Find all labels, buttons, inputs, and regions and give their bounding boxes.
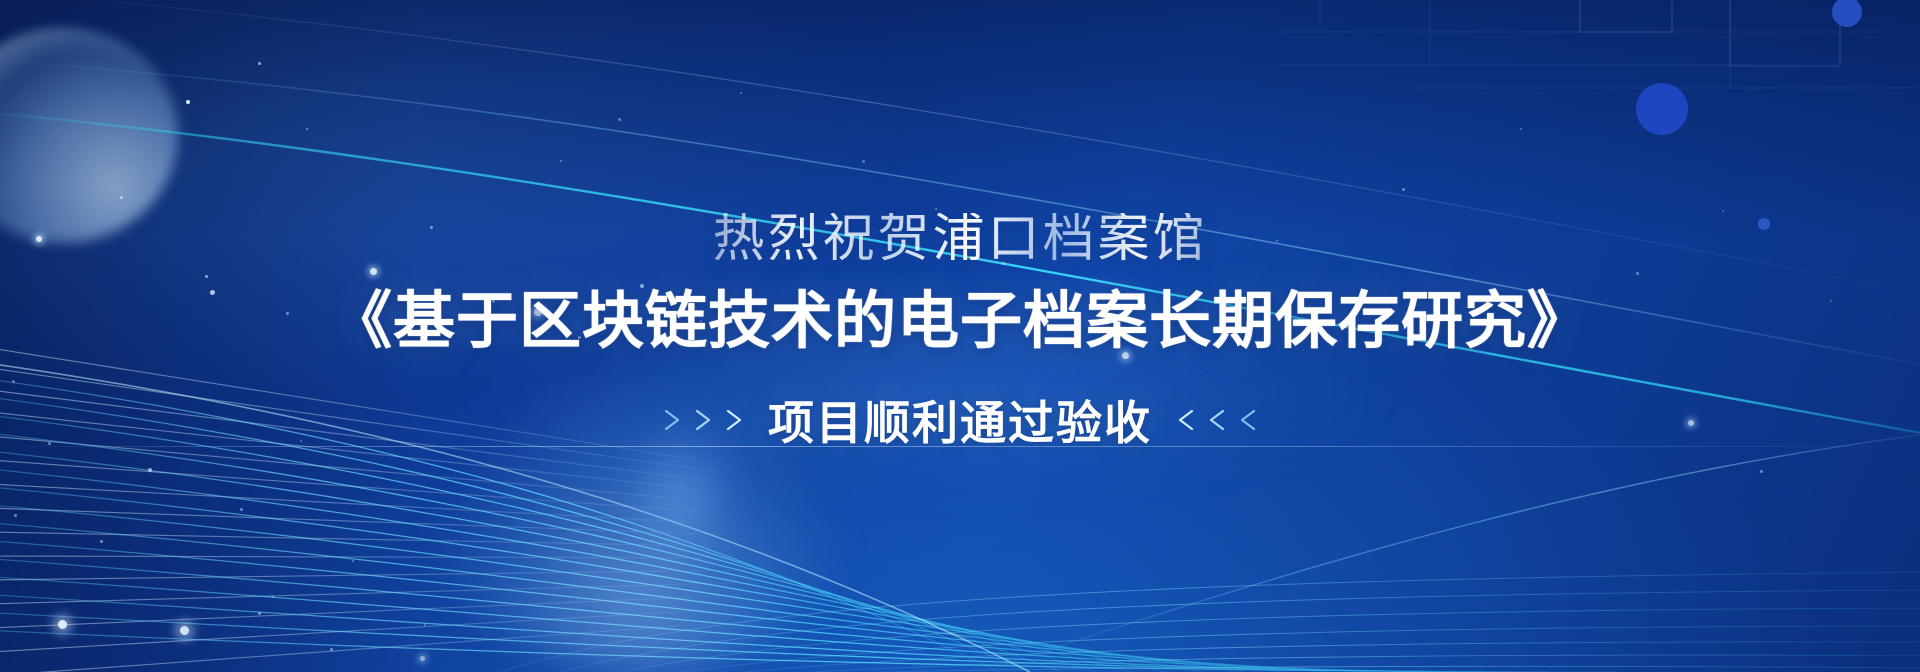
banner-status-text: 项目顺利通过验收 <box>768 387 1152 453</box>
chevron-right-icon <box>662 405 746 435</box>
banner-subtitle-line: 热烈祝贺浦口档案馆 <box>712 213 1207 265</box>
banner-project-title: 《基于区块链技术的电子档案长期保存研究》 <box>330 291 1590 353</box>
chevron-left-icon <box>1174 405 1258 435</box>
celebration-banner: 热烈祝贺浦口档案馆 《基于区块链技术的电子档案长期保存研究》 项目顺利通过验收 <box>0 0 1920 672</box>
banner-status-line: 项目顺利通过验收 <box>662 387 1258 453</box>
banner-content: 热烈祝贺浦口档案馆 《基于区块链技术的电子档案长期保存研究》 项目顺利通过验收 <box>0 0 1920 672</box>
